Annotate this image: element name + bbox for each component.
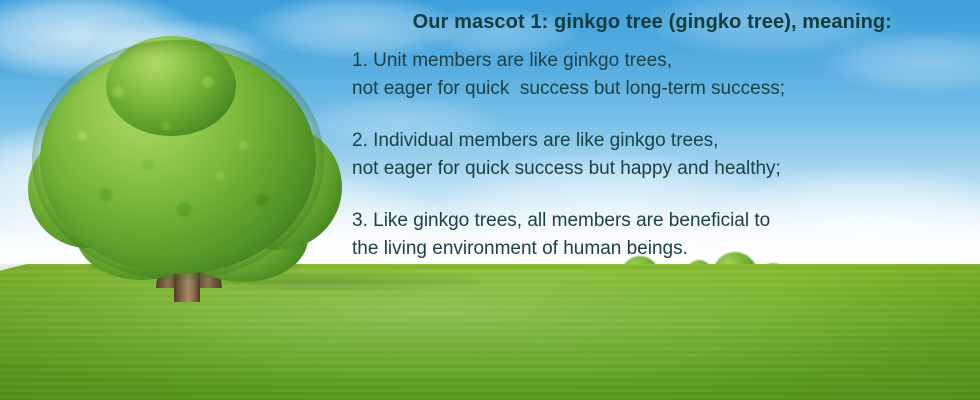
banner-paragraph-1: 1. Unit members are like ginkgo trees, n… (352, 47, 912, 103)
mascot-banner: Our mascot 1: ginkgo tree (gingko tree),… (0, 0, 980, 400)
banner-copy: Our mascot 1: ginkgo tree (gingko tree),… (0, 0, 980, 400)
banner-headline: Our mascot 1: ginkgo tree (gingko tree),… (0, 11, 892, 34)
banner-paragraph-list: 1. Unit members are like ginkgo trees, n… (352, 47, 912, 263)
banner-paragraph-2: 2. Individual members are like ginkgo tr… (352, 127, 912, 183)
banner-paragraph-3: 3. Like ginkgo trees, all members are be… (352, 207, 912, 263)
